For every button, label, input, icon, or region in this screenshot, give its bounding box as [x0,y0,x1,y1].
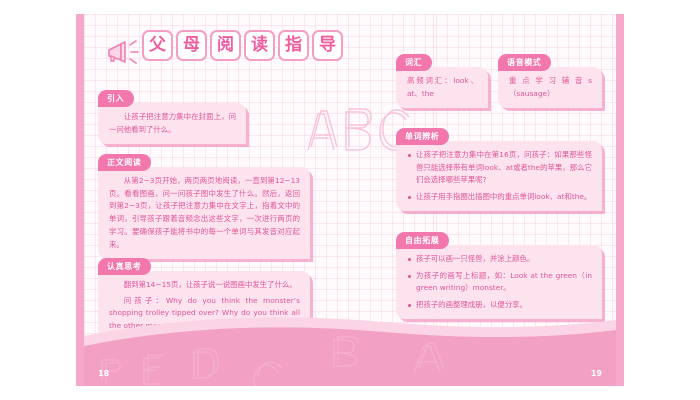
bullet-list: 让孩子把注意力集中在第16页，问孩子：如果那些怪兽只能选择带有单词look、at… [407,149,592,203]
section-card-vocabulary: 词汇 高频词汇：look、at、the [396,52,488,108]
page-number-left: 18 [98,369,109,378]
section-card-word-analysis: 单词辨析 让孩子把注意力集中在第16页，问孩子：如果那些怪兽只能选择带有单词lo… [396,126,602,211]
page-number-right: 19 [591,369,602,378]
section-tab-label: 正文阅读 [98,154,151,171]
section-paragraph: 让孩子把注意力集中在封面上，问一问他看到了什么。 [109,111,236,136]
left-white-margin [0,0,84,400]
section-tab-label: 引入 [98,90,134,107]
section-card-introduction: 引入 让孩子把注意力集中在封面上，问一问他看到了什么。 [98,88,246,144]
section-tab-label: 词汇 [396,54,432,71]
page-title: 父 母 阅 读 指 导 [142,30,343,61]
title-char: 阅 [210,30,241,61]
book-spread: 父 母 阅 读 指 导 引入 让孩子把注意力集中在封面上，问一问 [0,0,700,400]
section-paragraph: 高频词汇：look、at、the [407,75,478,100]
right-white-margin [616,0,700,400]
section-paragraph: 从第2~3页开始，两页两页地阅读，一直到第12~13页。看看图画，问一问孩子图中… [109,175,300,251]
section-tab-label: 认真思考 [98,258,151,275]
section-tab-label: 语音模式 [498,54,551,71]
section-paragraph: 重点学习辅音s（sausage） [509,75,592,100]
list-item: 让孩子用手指圈出插图中的重点单词look、at和the。 [407,191,592,204]
bullet-list: 孩子可以画一只怪兽，并涂上颜色。 为孩子的画写上标题，如：Look at the… [407,253,592,311]
paper-surface: 父 母 阅 读 指 导 引入 让孩子把注意力集中在封面上，问一问 [84,14,616,386]
section-card-main-reading: 正文阅读 从第2~3页开始，两页两页地阅读，一直到第12~13页。看看图画，问一… [98,152,310,259]
wave-footer [84,306,616,386]
left-pink-edge [76,14,84,386]
section-body: 让孩子把注意力集中在第16页，问孩子：如果那些怪兽只能选择带有单词look、at… [396,141,602,211]
section-body: 从第2~3页开始，两页两页地阅读，一直到第12~13页。看看图画，问一问孩子图中… [98,167,310,259]
section-paragraph: 翻到第14~15页，让孩子说一说图画中发生了什么。 [109,279,300,292]
list-item: 为孩子的画写上标题，如：Look at the green（in green w… [407,270,592,295]
section-tab-label: 自由拓展 [396,232,449,249]
section-card-phonics: 语音模式 重点学习辅音s（sausage） [498,52,602,108]
list-item: 孩子可以画一只怪兽，并涂上颜色。 [407,253,592,266]
title-char: 母 [176,30,207,61]
section-body: 高频词汇：look、at、the [396,67,488,108]
title-char: 指 [278,30,309,61]
right-pink-edge [616,14,624,386]
megaphone-icon [105,36,145,68]
title-char: 父 [142,30,173,61]
section-body: 重点学习辅音s（sausage） [498,67,602,108]
section-tab-label: 单词辨析 [396,128,449,145]
section-body: 让孩子把注意力集中在封面上，问一问他看到了什么。 [98,103,246,144]
title-char: 读 [244,30,275,61]
list-item: 让孩子把注意力集中在第16页，问孩子：如果那些怪兽只能选择带有单词look、at… [407,149,592,187]
title-char: 导 [312,30,343,61]
wave-shape [84,306,616,386]
